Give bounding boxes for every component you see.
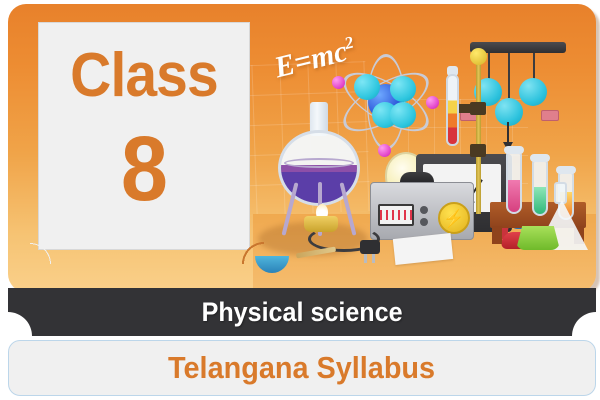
force-arrow <box>507 122 509 144</box>
nucleus-lobe <box>354 74 380 100</box>
pendulum-hook <box>541 110 559 121</box>
electron <box>378 144 391 157</box>
pendulum-string <box>488 53 490 81</box>
stand-clamp <box>470 102 486 115</box>
pendulum-string <box>533 53 535 81</box>
pendulum-string <box>508 53 510 101</box>
pendulum-ball <box>519 78 547 106</box>
device-knob <box>420 206 428 214</box>
syllabus-title: Telangana Syllabus <box>168 350 435 386</box>
electron <box>426 96 439 109</box>
subject-banner: Physical science <box>8 288 596 336</box>
electron <box>332 76 345 89</box>
plug-prong <box>364 254 367 263</box>
lightning-bolt-icon: ⚡ <box>438 202 470 234</box>
rack-leg <box>492 226 502 244</box>
banner-notch-left <box>8 312 32 336</box>
flask-support-ring <box>284 158 354 168</box>
test-tube-cap <box>504 146 524 154</box>
test-tube-cap <box>530 154 550 162</box>
waveform-trace <box>380 210 412 220</box>
poster-canvas: E=mc2 <box>0 0 600 400</box>
nucleus-lobe <box>390 102 416 128</box>
syllabus-panel[interactable]: Telangana Syllabus <box>8 340 596 396</box>
banner-notch-right <box>572 312 596 336</box>
retort-stand-knob <box>470 48 487 65</box>
power-plug-icon <box>360 240 380 254</box>
retort-stand-rod <box>476 56 481 214</box>
class-card: Class 8 <box>38 22 250 250</box>
nucleus-lobe <box>390 76 416 102</box>
round-flask-assembly <box>276 124 362 234</box>
erlenmeyer-liquid <box>516 226 560 250</box>
card-corner-cut-right <box>234 234 264 264</box>
device-knob <box>420 218 428 226</box>
stand-clamp <box>470 144 486 157</box>
subject-title: Physical science <box>201 297 402 328</box>
class-number: 8 <box>47 123 240 215</box>
test-tube-cap <box>556 166 576 174</box>
plug-prong <box>372 254 375 263</box>
class-label: Class <box>47 45 240 107</box>
thermometer-icon <box>446 74 459 146</box>
pendulum-ball <box>495 98 523 126</box>
card-corner-cut-left <box>30 234 60 264</box>
test-tube <box>506 152 522 214</box>
test-tube-liquid <box>508 180 520 212</box>
hero-card: E=mc2 <box>8 4 596 292</box>
